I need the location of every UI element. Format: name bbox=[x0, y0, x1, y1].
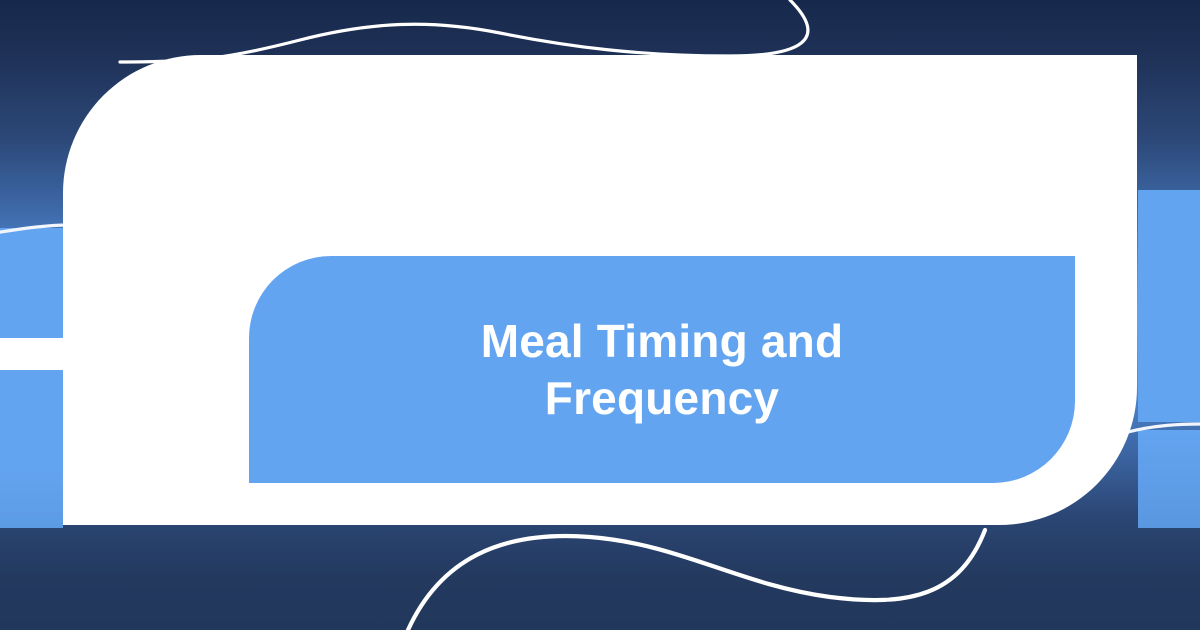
page-title: Meal Timing and Frequency bbox=[481, 313, 844, 425]
top-wave-line bbox=[120, 0, 808, 62]
content-card: Meal Timing and Frequency bbox=[63, 55, 1137, 525]
bottom-wave-line bbox=[408, 530, 985, 630]
right-wave-line bbox=[1128, 424, 1200, 432]
title-card-canvas: Meal Timing and Frequency bbox=[0, 0, 1200, 630]
title-panel: Meal Timing and Frequency bbox=[249, 256, 1075, 483]
mid-wave-line bbox=[0, 225, 70, 233]
